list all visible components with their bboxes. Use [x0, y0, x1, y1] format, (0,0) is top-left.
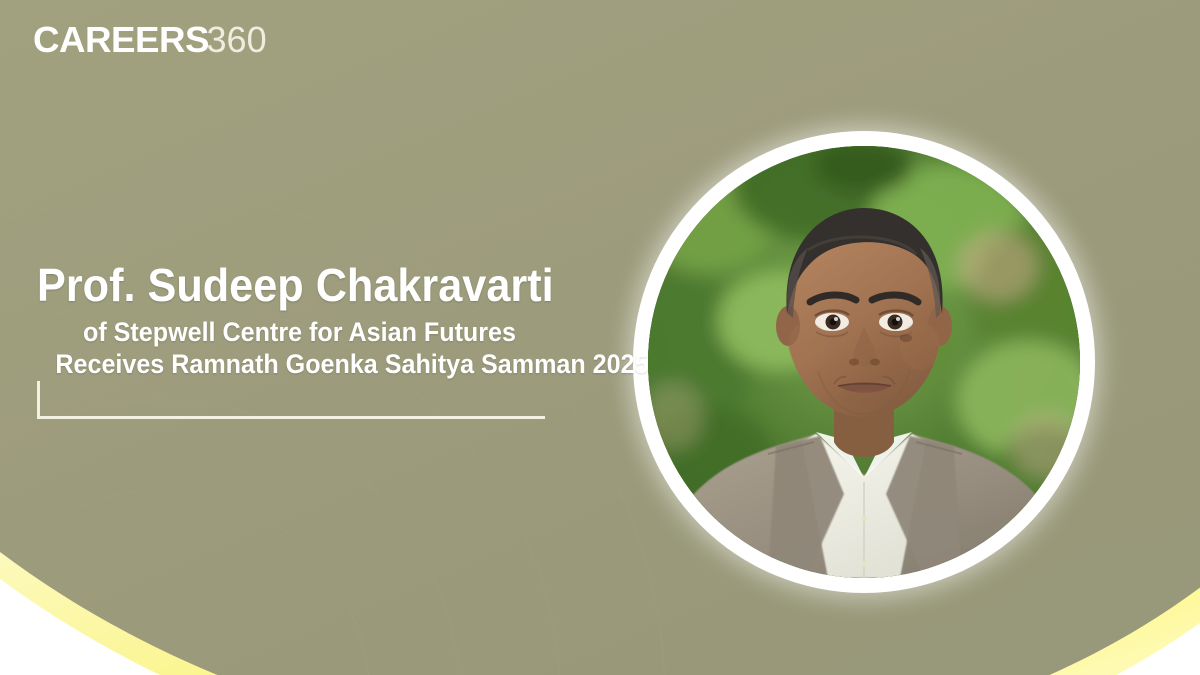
portrait-photo [648, 146, 1080, 578]
headline-block: Prof. Sudeep Chakravarti of Stepwell Cen… [37, 262, 597, 381]
logo-careers-text: CAREERS [33, 22, 209, 58]
portrait-avatar [633, 131, 1095, 593]
headline-subtitle-line-2: Receives Ramnath Goenka Sahitya Samman 2… [55, 349, 543, 381]
news-banner: CAREERS 360 Prof. Sudeep Chakravarti of … [0, 0, 1200, 675]
portrait-image-clip [648, 146, 1080, 578]
logo-360-text: 360 [207, 22, 267, 58]
headline-main-title: Prof. Sudeep Chakravarti [37, 262, 563, 309]
headline-subtitle: of Stepwell Centre for Asian Futures Rec… [37, 317, 562, 381]
headline-subtitle-line-1: of Stepwell Centre for Asian Futures [55, 317, 543, 349]
careers360-logo[interactable]: CAREERS 360 [33, 22, 267, 58]
